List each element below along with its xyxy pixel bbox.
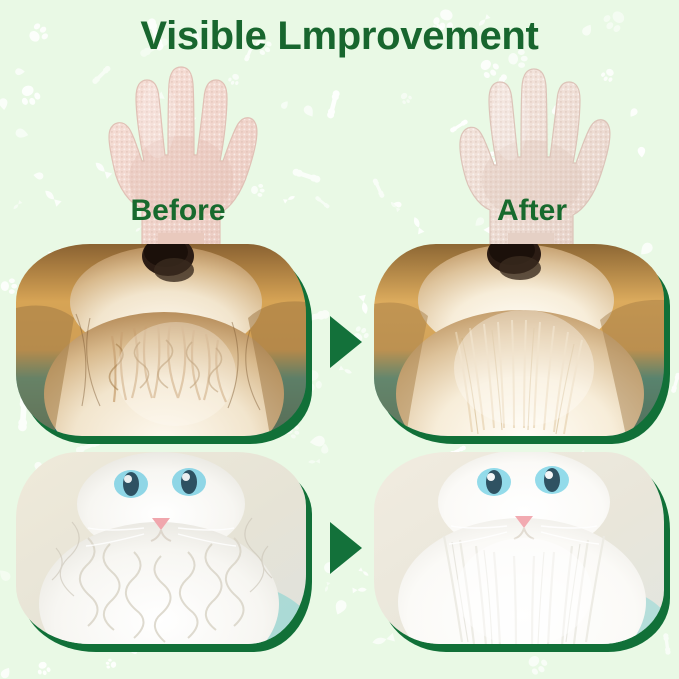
panel-image-clip [16, 452, 306, 644]
promo-graphic: Visible Lmprovement [0, 0, 679, 679]
panel-image-clip [374, 452, 664, 644]
dog-photo-before [16, 244, 306, 436]
arrow-right-icon-bottom [322, 518, 368, 578]
photo-dog-after [374, 244, 664, 436]
panel-image-clip [16, 244, 306, 436]
arrow-right-icon-top [322, 312, 368, 372]
page-title: Visible Lmprovement [0, 14, 679, 59]
cat-photo-after [374, 452, 664, 644]
dog-photo-after [374, 244, 664, 436]
label-after: After [432, 194, 632, 228]
panel-image-clip [374, 244, 664, 436]
label-before: Before [78, 194, 278, 228]
photo-cat-after [374, 452, 664, 644]
photo-cat-before [16, 452, 306, 644]
photo-dog-before [16, 244, 306, 436]
cat-photo-before [16, 452, 306, 644]
